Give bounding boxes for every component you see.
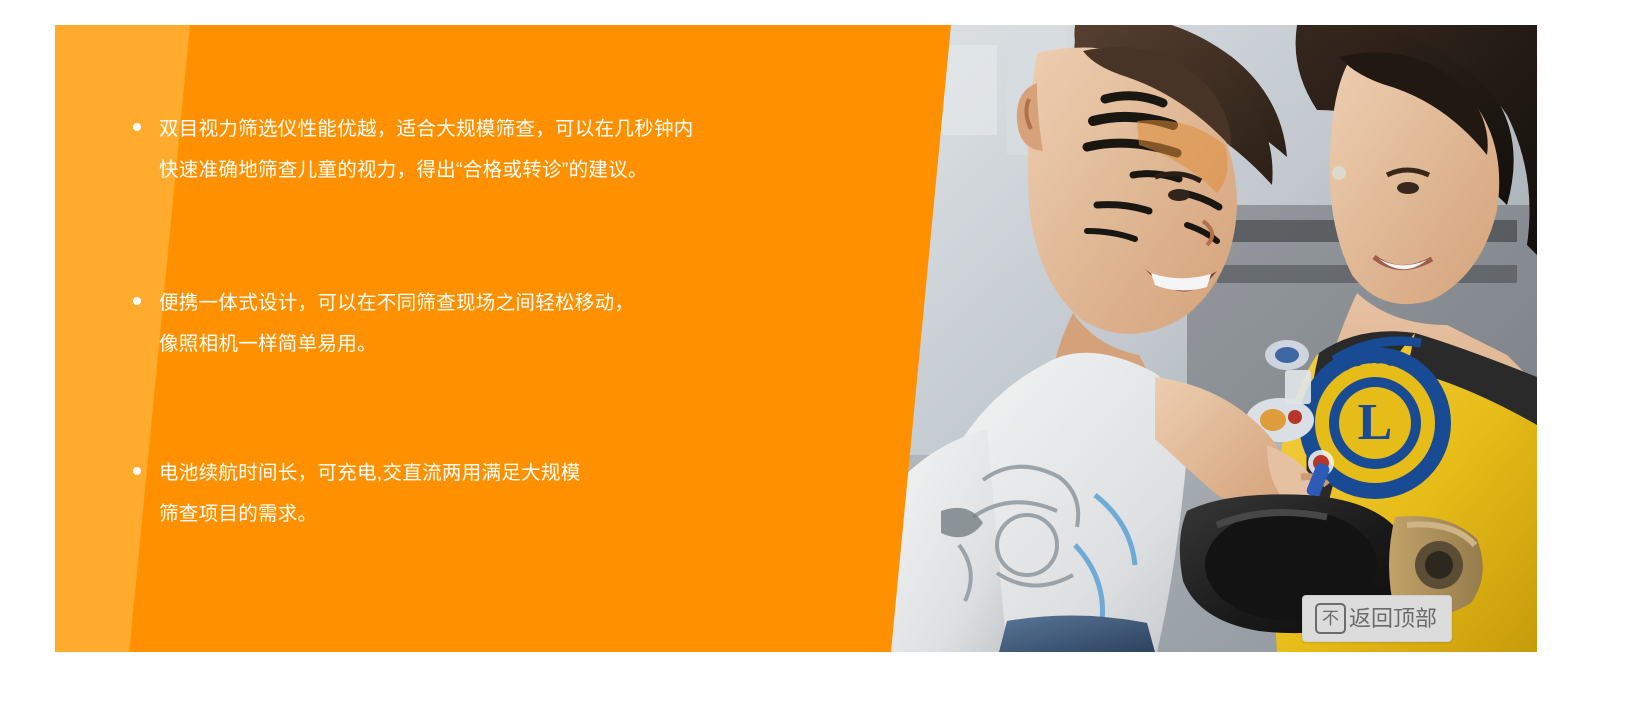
list-item: 双目视力筛选仪性能优越，适合大规模筛查，可以在几秒钟内 快速准确地筛查儿童的视力… (133, 109, 694, 191)
list-item-text: 便携一体式设计，可以在不同筛查现场之间轻松移动， 像照相机一样简单易用。 (159, 283, 634, 365)
list-item-text: 双目视力筛选仪性能优越，适合大规模筛查，可以在几秒钟内 快速准确地筛查儿童的视力… (159, 109, 694, 191)
page-root: L LIONS (0, 0, 1647, 710)
bullet-dot-icon (133, 297, 141, 305)
back-to-top-button[interactable]: 不 返回顶部 (1302, 595, 1452, 642)
feature-banner: L LIONS (55, 25, 1537, 652)
bullet-dot-icon (133, 123, 141, 131)
list-item: 电池续航时间长，可充电,交直流两用满足大规模 筛查项目的需求。 (133, 453, 581, 535)
bullet-dot-icon (133, 467, 141, 475)
feature-list: 双目视力筛选仪性能优越，适合大规模筛查，可以在几秒钟内 快速准确地筛查儿童的视力… (55, 25, 891, 652)
list-item: 便携一体式设计，可以在不同筛查现场之间轻松移动， 像照相机一样简单易用。 (133, 283, 634, 365)
photo-illustration: L LIONS (887, 25, 1537, 652)
back-to-top-icon: 不 (1315, 603, 1346, 634)
list-item-text: 电池续航时间长，可充电,交直流两用满足大规模 筛查项目的需求。 (159, 453, 581, 535)
banner-photo: L LIONS (887, 25, 1537, 652)
back-to-top-label: 返回顶部 (1349, 608, 1437, 630)
